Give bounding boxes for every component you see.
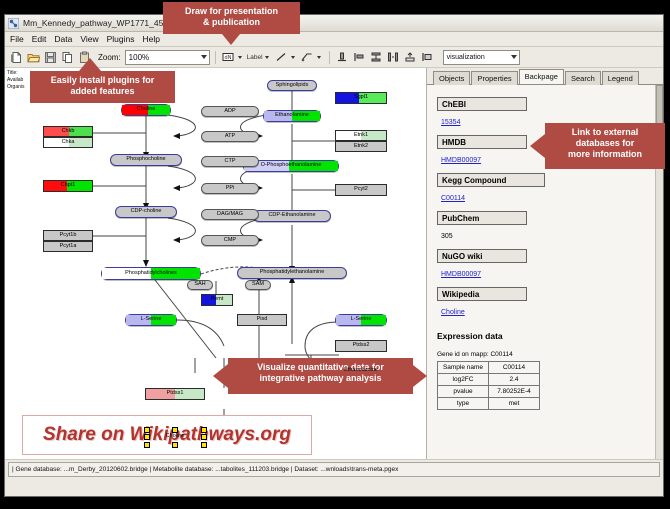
node-l-serine-left[interactable]: L-Serine: [125, 314, 177, 326]
db-header-nugowiki: NuGO wiki: [437, 249, 527, 263]
toolbar-separator: [215, 51, 216, 64]
status-bar-area: | Gene database: ...m_Derby_20120602.bri…: [5, 459, 663, 478]
selection-handle-nw[interactable]: [144, 427, 150, 433]
callout-plugins-line2: added features: [36, 86, 169, 97]
scrollbar-thumb[interactable]: [656, 85, 663, 125]
order-icon[interactable]: [420, 50, 435, 65]
menu-bar: File Edit Data View Plugins Help: [5, 32, 663, 47]
status-bar: | Gene database: ...m_Derby_20120602.bri…: [8, 462, 660, 477]
new-file-icon[interactable]: [9, 50, 24, 65]
expr-key-pvalue: pvalue: [438, 386, 489, 398]
node-choline-top[interactable]: Choline: [121, 104, 171, 116]
zoom-combo[interactable]: 100%: [125, 50, 210, 65]
node-label: Pisd: [255, 317, 270, 323]
callout-visualize-arrow-right-icon: [413, 365, 427, 387]
expr-val-sample-name: C00114: [489, 362, 540, 374]
menu-help[interactable]: Help: [143, 34, 160, 44]
db-header-pubchem: PubChem: [437, 211, 527, 225]
db-header-wikipedia: Wikipedia: [437, 287, 527, 301]
callout-visualize-arrow-icon: [213, 364, 228, 388]
callout-visualize-line2: integrative pathway analysis: [234, 373, 407, 384]
db-link-chebi[interactable]: 15354: [441, 119, 460, 126]
distribute-horizontal-icon[interactable]: [386, 50, 401, 65]
pathway-canvas[interactable]: Title: Availab Organis: [5, 68, 427, 459]
node-chka[interactable]: Chka: [43, 137, 93, 148]
anchor-dropdown-icon[interactable]: [317, 56, 321, 59]
tab-search[interactable]: Search: [565, 71, 601, 85]
anchor-line-icon[interactable]: [300, 50, 315, 65]
expression-data-heading: Expression data: [437, 331, 663, 341]
selection-handle-sw[interactable]: [144, 442, 150, 448]
callout-links-line2: databases for: [551, 138, 659, 149]
align-top-icon[interactable]: [335, 50, 350, 65]
expr-key-log2fc: log2FC: [438, 374, 489, 386]
open-folder-icon[interactable]: [26, 50, 41, 65]
node-ptdss2[interactable]: Ptdss2: [335, 340, 387, 352]
gene-id-on-mapp: Gene id on mapp: C00114: [437, 351, 663, 358]
chevron-down-icon: [201, 55, 207, 59]
pathvisio-app-icon: [8, 18, 19, 29]
expr-key-type: type: [438, 398, 489, 410]
node-label: Sphingolipids: [274, 83, 311, 89]
menu-plugins[interactable]: Plugins: [107, 34, 135, 44]
callout-links-line3: more information: [551, 149, 659, 160]
zoom-value: 100%: [129, 53, 149, 62]
menu-view[interactable]: View: [80, 34, 98, 44]
table-row: log2FC 2.4: [438, 374, 540, 386]
node-label: Choline: [135, 107, 158, 113]
align-left-icon[interactable]: [352, 50, 367, 65]
callout-links-arrow-icon: [530, 134, 545, 158]
toolbar-separator-2: [329, 51, 330, 64]
node-pcyt1b[interactable]: Pcyt1b: [43, 230, 93, 241]
db-header-hmdb: HMDB: [437, 135, 527, 149]
node-label: Pcyt1b: [58, 233, 79, 239]
node-cmp[interactable]: CMP: [201, 235, 259, 246]
callout-plugins: Easily install plugins for added feature…: [30, 71, 175, 103]
node-label: SAH: [192, 282, 207, 288]
tool-bar: Zoom: 100% dN Label: [5, 47, 663, 68]
callout-visualize-line1: Visualize quantitative data for: [234, 362, 407, 373]
callout-draw: Draw for presentation & publication: [163, 2, 300, 34]
visualization-value: visualization: [447, 54, 485, 61]
node-label: Ethanolamine: [342, 368, 380, 374]
node-label: Ptdss1: [165, 391, 186, 397]
svg-text:dN: dN: [225, 55, 232, 61]
node-label: CDP-Ethanolamine: [266, 213, 317, 219]
expression-table: Sample name C00114 log2FC 2.4 pvalue 7.8…: [437, 361, 540, 410]
table-row: type met: [438, 398, 540, 410]
group-icon[interactable]: [403, 50, 418, 65]
label-dropdown-icon[interactable]: [265, 56, 269, 59]
node-label: ATP: [223, 134, 237, 140]
node-pisd[interactable]: Pisd: [237, 314, 287, 326]
db-link-wikipedia[interactable]: Choline: [441, 309, 465, 316]
tab-backpage[interactable]: Backpage: [519, 69, 564, 84]
node-etnk1[interactable]: Etnk1: [335, 130, 387, 141]
zoom-label: Zoom:: [98, 53, 121, 62]
tab-legend[interactable]: Legend: [602, 71, 639, 85]
datanode-icon[interactable]: dN: [221, 50, 236, 65]
expr-val-type: met: [489, 398, 540, 410]
datanode-dropdown-icon[interactable]: [238, 56, 242, 59]
node-cdp-ethanolamine[interactable]: CDP-Ethanolamine: [253, 210, 331, 222]
node-phosphocholine[interactable]: Phosphocholine: [110, 154, 182, 166]
node-label: L-Serine: [139, 317, 164, 323]
selection-handle-s[interactable]: [172, 442, 178, 448]
node-l-serine-right[interactable]: L-Serine: [335, 314, 387, 326]
db-link-hmdb[interactable]: HMDB00097: [441, 157, 481, 164]
stack-vertical-icon[interactable]: [369, 50, 384, 65]
save-icon[interactable]: [43, 50, 58, 65]
callout-visualize: Visualize quantitative data for integrat…: [228, 358, 413, 394]
db-value-pubchem: 305: [441, 233, 453, 240]
callout-plugins-line1: Easily install plugins for: [36, 75, 169, 86]
node-chkb[interactable]: Chkb: [43, 126, 93, 137]
node-sgpl1[interactable]: Sgpl1: [335, 92, 387, 104]
callout-draw-line2: & publication: [169, 17, 294, 28]
menu-file[interactable]: File: [10, 34, 24, 44]
node-etnk2[interactable]: Etnk2: [335, 141, 387, 152]
node-ppi[interactable]: PPi: [201, 183, 259, 194]
node-label: SAM: [250, 282, 266, 288]
db-header-chebi: ChEBI: [437, 97, 527, 111]
node-label: CTP: [223, 159, 238, 165]
selection-handle-ne[interactable]: [201, 427, 207, 433]
selection-handle-se[interactable]: [201, 442, 207, 448]
menu-data[interactable]: Data: [54, 34, 72, 44]
node-label: Phosphatidylethanolamine: [258, 270, 327, 276]
node-cdp-choline[interactable]: CDP-choline: [115, 206, 177, 218]
node-label: L-Serine: [349, 317, 374, 323]
node-label: Pcyt1a: [58, 244, 79, 250]
table-row: pvalue 7.80252E-4: [438, 386, 540, 398]
node-ptdss1[interactable]: Ptdss1: [145, 388, 205, 400]
db-header-kegg: Kegg Compound: [437, 173, 545, 187]
node-label: Sgpl1: [352, 95, 370, 101]
visualization-combo[interactable]: visualization: [443, 50, 520, 65]
line-icon[interactable]: [274, 50, 289, 65]
selection-handle-w[interactable]: [144, 434, 150, 440]
callout-links: Link to external databases for more info…: [545, 123, 665, 169]
node-label: Chka: [60, 140, 77, 146]
node-dag-mag[interactable]: DAG/MAG: [201, 209, 259, 220]
expr-val-pvalue: 7.80252E-4: [489, 386, 540, 398]
node-label: Chpt1: [59, 183, 78, 189]
db-link-nugowiki[interactable]: HMDB00097: [441, 271, 481, 278]
node-pcyt2[interactable]: Pcyt2: [335, 184, 387, 196]
callout-draw-line1: Draw for presentation: [169, 6, 294, 17]
tab-objects[interactable]: Objects: [433, 71, 470, 85]
node-ethanolamine-top[interactable]: Ethanolamine: [263, 110, 321, 122]
selection-handle-e[interactable]: [201, 434, 207, 440]
db-link-kegg[interactable]: C00114: [441, 195, 465, 202]
node-sphingolipids[interactable]: Sphingolipids: [267, 80, 317, 91]
chevron-down-icon: [511, 55, 517, 59]
node-pemt[interactable]: Pemt: [201, 294, 233, 306]
node-label: Phosphatidylcholines: [123, 271, 179, 277]
side-panel-tabs: Objects Properties Backpage Search Legen…: [427, 68, 663, 85]
selection-handle-n[interactable]: [172, 427, 178, 433]
node-sam[interactable]: SAM: [245, 280, 271, 290]
callout-links-line1: Link to external: [551, 127, 659, 138]
node-label: O-Phosphoethanolamine: [259, 163, 324, 169]
window-title-bar: Mm_Kennedy_pathway_WP1771_45176.gpml: [5, 15, 663, 32]
node-atp[interactable]: ATP: [201, 131, 259, 142]
node-label: Etnk2: [352, 144, 370, 150]
node-label: Etnk1: [352, 133, 370, 139]
node-pcyt1a[interactable]: Pcyt1a: [43, 241, 93, 252]
line-dropdown-icon[interactable]: [291, 56, 295, 59]
node-label: CDP-choline: [129, 209, 164, 215]
node-phosphatidylcholines[interactable]: Phosphatidylcholines: [101, 267, 201, 280]
expr-key-sample-name: Sample name: [438, 362, 489, 374]
copy-icon[interactable]: [60, 50, 75, 65]
node-ctp[interactable]: CTP: [201, 156, 259, 167]
node-label: Phosphocholine: [124, 157, 167, 163]
node-label: Pcyt2: [352, 187, 370, 193]
expr-val-log2fc: 2.4: [489, 374, 540, 386]
node-phosphatidylethanolamine[interactable]: Phosphatidylethanolamine: [237, 267, 347, 279]
node-adp[interactable]: ADP: [201, 106, 259, 117]
node-label: DAG/MAG: [215, 212, 245, 218]
node-label: ADP: [222, 109, 237, 115]
table-row: Sample name C00114: [438, 362, 540, 374]
node-label: Choline: [164, 434, 187, 440]
menu-edit[interactable]: Edit: [32, 34, 47, 44]
tab-properties[interactable]: Properties: [471, 71, 517, 85]
node-label: Ptdss2: [351, 343, 372, 349]
callout-draw-arrow-icon: [222, 34, 240, 45]
node-label: PPi: [224, 186, 237, 192]
node-sah[interactable]: SAH: [187, 280, 213, 290]
label-tool-label[interactable]: Label: [247, 54, 263, 61]
node-chpt1[interactable]: Chpt1: [43, 180, 93, 192]
node-label: Pemt: [209, 297, 226, 303]
node-label: Ethanolamine: [273, 113, 311, 119]
callout-plugins-arrow-icon: [79, 58, 101, 71]
node-label: Chkb: [60, 129, 77, 135]
node-label: CMP: [222, 238, 238, 244]
